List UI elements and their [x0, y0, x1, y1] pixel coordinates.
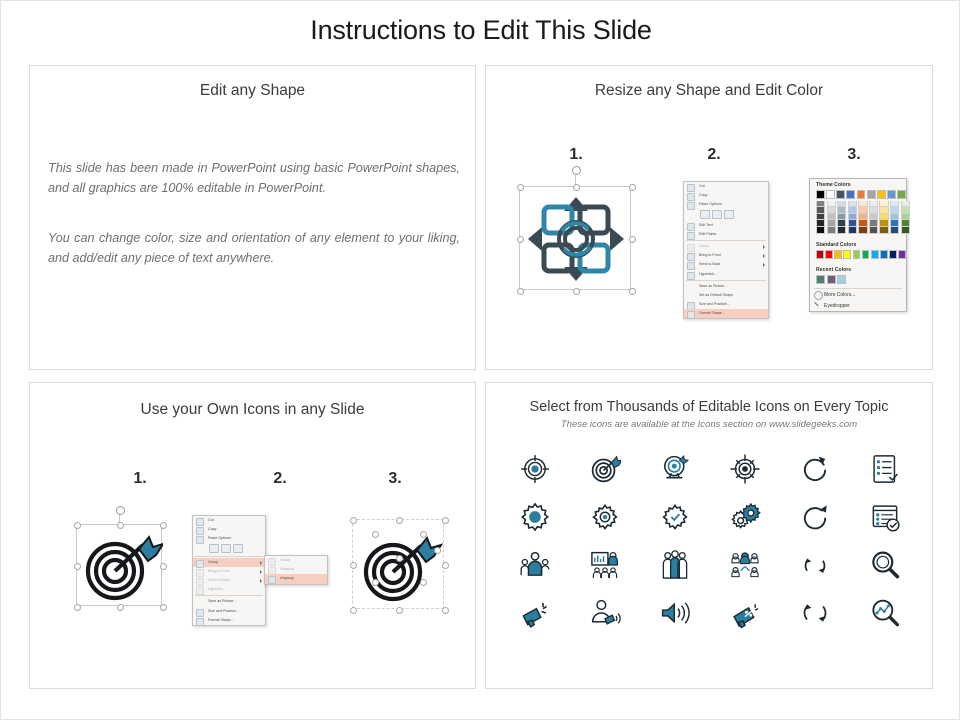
resize-handle-sw[interactable]	[517, 288, 524, 295]
resize-step-number-1: 1.	[556, 146, 596, 164]
theme-shade-swatch[interactable]	[848, 227, 857, 234]
standard-color-swatch[interactable]	[816, 250, 824, 259]
sub-shape-handle[interactable]	[434, 547, 441, 554]
menu-item-label: Save as Picture...	[699, 284, 727, 288]
four-arrow-ring-shape-icon	[520, 187, 632, 291]
theme-shade-column[interactable]	[858, 201, 867, 234]
target-crosshair-icon[interactable]	[519, 453, 551, 485]
chevron-right-icon	[260, 579, 262, 583]
icon-context-menu[interactable]: CutCopyPaste Options:GroupBring to Front…	[192, 515, 266, 626]
rotation-handle-icon[interactable]	[116, 506, 125, 515]
menu-item-label: Group	[699, 244, 709, 248]
checklist-document-icon[interactable]	[869, 453, 901, 485]
icon-library-subtitle: These icons are available at the Icons s…	[486, 419, 932, 430]
refresh-clockwise-icon[interactable]	[799, 453, 831, 485]
menu-item-label: Size and Position...	[208, 609, 239, 613]
menu-item-regroup[interactable]: Regroup	[265, 565, 327, 574]
menu-item-label: Edit Points	[699, 232, 716, 236]
menu-item-edit-points[interactable]: Edit Points	[684, 230, 768, 239]
menu-item-set-as-default-shape[interactable]: Set as Default Shape	[684, 291, 768, 300]
chevron-right-icon	[763, 245, 765, 249]
standard-color-swatch[interactable]	[834, 250, 842, 259]
speaker-sound-icon[interactable]	[659, 597, 691, 629]
menu-item-size-and-position[interactable]: Size and Position...	[193, 607, 265, 616]
resize-handle-sw[interactable]	[74, 604, 81, 611]
resize-handle-s[interactable]	[573, 288, 580, 295]
slide-canvas: Instructions to Edit This Slide Edit any…	[0, 0, 960, 720]
panel-icon-library: Select from Thousands of Editable Icons …	[485, 382, 933, 689]
theme-shade-swatch[interactable]	[858, 227, 867, 234]
crosshair-dot-icon[interactable]	[729, 453, 761, 485]
theme-color-swatch[interactable]	[816, 190, 825, 199]
menu-item-copy[interactable]: Copy	[193, 525, 265, 534]
theme-shade-swatch[interactable]	[827, 207, 836, 214]
standard-colors-label: Standard Colors	[810, 239, 906, 250]
standard-color-swatch[interactable]	[880, 250, 888, 259]
recent-colors-label: Recent Colors	[810, 264, 906, 275]
menu-item-label: Hyperlink...	[208, 587, 226, 591]
theme-shade-swatch[interactable]	[901, 220, 910, 227]
theme-shade-swatch[interactable]	[879, 214, 888, 221]
menu-item-hyperlink[interactable]: Hyperlink...	[684, 270, 768, 279]
theme-shade-swatch[interactable]	[869, 227, 878, 234]
recent-color-swatch[interactable]	[837, 275, 846, 284]
menu-item-label: Edit Text	[699, 223, 713, 227]
panel-edit-any-shape: Edit any Shape This slide has been made …	[29, 65, 476, 370]
two-gears-icon[interactable]	[729, 501, 761, 533]
theme-shade-swatch[interactable]	[901, 201, 910, 208]
theme-shade-swatch[interactable]	[869, 214, 878, 221]
theme-shade-swatch[interactable]	[816, 227, 825, 234]
menu-item-label: Regroup	[280, 567, 294, 571]
presentation-team-icon[interactable]	[589, 549, 621, 581]
menu-item-label: Cut	[699, 184, 705, 188]
resize-handle-w[interactable]	[74, 563, 81, 570]
icons-step-number-1: 1.	[120, 470, 160, 488]
theme-shade-swatch[interactable]	[901, 207, 910, 214]
reload-circle-icon[interactable]	[799, 501, 831, 533]
theme-color-swatch[interactable]	[826, 190, 835, 199]
theme-shade-swatch[interactable]	[901, 214, 910, 221]
theme-colors-shade-grid[interactable]	[810, 201, 906, 234]
target-stand-icon[interactable]	[659, 453, 691, 485]
menu-item-bring-to-front[interactable]: Bring to Front	[684, 251, 768, 260]
hyperlink-icon	[196, 587, 204, 595]
resize-step-number-2: 2.	[694, 146, 734, 164]
person-megaphone-icon[interactable]	[589, 597, 621, 629]
theme-shade-column[interactable]	[879, 201, 888, 234]
circular-arrows-icon[interactable]	[799, 597, 831, 629]
paste-keep-formatting-icon[interactable]	[700, 210, 710, 220]
resize-handle-sw[interactable]	[350, 607, 357, 614]
menu-item-label: Bring to Front	[208, 569, 230, 573]
shape-context-menu[interactable]: CutCopyPaste Options:Edit TextEdit Point…	[683, 181, 769, 319]
theme-color-swatch[interactable]	[857, 190, 866, 199]
resize-handle-s[interactable]	[117, 604, 124, 611]
theme-color-swatch[interactable]	[877, 190, 886, 199]
resize-handle-e[interactable]	[629, 236, 636, 243]
theme-shade-swatch[interactable]	[837, 220, 846, 227]
hyperlink-icon	[687, 272, 695, 280]
theme-shade-swatch[interactable]	[848, 214, 857, 221]
theme-shade-swatch[interactable]	[858, 201, 867, 208]
menu-item-hyperlink[interactable]: Hyperlink...	[193, 585, 265, 594]
paste-picture-icon[interactable]	[221, 544, 231, 554]
resize-handle-n[interactable]	[396, 517, 403, 524]
standard-color-swatch[interactable]	[853, 250, 861, 259]
theme-shade-swatch[interactable]	[901, 227, 910, 234]
resize-handle-se[interactable]	[442, 607, 449, 614]
menu-item-label: Hyperlink...	[699, 272, 717, 276]
dartboard-arrow-ungrouped-icon	[353, 520, 445, 610]
theme-shade-swatch[interactable]	[837, 201, 846, 208]
audience-person-icon[interactable]	[519, 549, 551, 581]
sub-shape-handle[interactable]	[372, 531, 379, 538]
menu-item-save-as-picture[interactable]: Save as Picture...	[193, 597, 265, 606]
theme-shade-swatch[interactable]	[816, 201, 825, 208]
chevron-right-icon	[763, 263, 765, 267]
theme-shade-swatch[interactable]	[890, 214, 899, 221]
group-submenu[interactable]: GroupRegroupUngroup	[264, 555, 328, 585]
resize-handle-s[interactable]	[396, 607, 403, 614]
edit-points-icon	[687, 232, 695, 240]
standard-color-swatch[interactable]	[843, 250, 851, 259]
theme-shade-column[interactable]	[848, 201, 857, 234]
resize-handle-w[interactable]	[350, 562, 357, 569]
color-wheel-icon	[814, 291, 823, 300]
more-colors-menu-item[interactable]: More Colors...	[810, 289, 906, 300]
resize-handle-n[interactable]	[117, 522, 124, 529]
menu-item-label: Save as Picture...	[208, 599, 236, 603]
paste-keep-text-icon[interactable]	[233, 544, 243, 554]
menu-item-ungroup[interactable]: Ungroup	[265, 574, 327, 583]
theme-shade-column[interactable]	[869, 201, 878, 234]
group-people-icon[interactable]	[659, 549, 691, 581]
edit-shape-paragraph-2: You can change color, size and orientati…	[48, 228, 460, 268]
chevron-right-icon	[260, 570, 262, 574]
chevron-right-icon	[260, 561, 262, 565]
icons-step-number-2: 2.	[260, 470, 300, 488]
menu-divider	[686, 280, 766, 281]
menu-item-save-as-picture[interactable]: Save as Picture...	[684, 282, 768, 291]
menu-item-label: Size and Position...	[699, 302, 730, 306]
theme-shade-swatch[interactable]	[858, 207, 867, 214]
panel-resize-shape-edit-color: Resize any Shape and Edit Color 1. 2. 3.	[485, 65, 933, 370]
theme-shade-swatch[interactable]	[890, 220, 899, 227]
sub-shape-handle[interactable]	[420, 579, 427, 586]
resize-handle-ne[interactable]	[442, 517, 449, 524]
panel-title-edit-shape: Edit any Shape	[30, 82, 475, 100]
menu-item-bring-to-front[interactable]: Bring to Front	[193, 567, 265, 576]
theme-shade-swatch[interactable]	[816, 220, 825, 227]
paste-keep-formatting-icon[interactable]	[209, 544, 219, 554]
theme-shade-swatch[interactable]	[837, 214, 846, 221]
theme-shade-swatch[interactable]	[816, 214, 825, 221]
menu-item-paste-options[interactable]: Paste Options:	[193, 534, 265, 543]
menu-item-send-to-back[interactable]: Send to Back	[684, 260, 768, 269]
sync-arrows-icon[interactable]	[799, 549, 831, 581]
dartboard-selection-frame[interactable]	[76, 524, 162, 606]
standard-color-swatch[interactable]	[825, 250, 833, 259]
resize-handle-ne[interactable]	[629, 184, 636, 191]
gear-dot-icon[interactable]	[589, 501, 621, 533]
theme-color-swatch[interactable]	[897, 190, 906, 199]
paste-options-row[interactable]	[193, 544, 265, 555]
shape-selection-frame[interactable]	[519, 186, 631, 290]
menu-item-label: Copy	[699, 193, 707, 197]
menu-item-label: Send to Back	[208, 578, 229, 582]
paste-icon	[196, 536, 204, 544]
team-hierarchy-icon[interactable]	[729, 549, 761, 581]
magnifier-chart-icon[interactable]	[869, 597, 901, 629]
panel-title-icon-library: Select from Thousands of Editable Icons …	[486, 399, 932, 415]
panel-title-resize-shape: Resize any Shape and Edit Color	[486, 82, 932, 100]
theme-shade-swatch[interactable]	[869, 201, 878, 208]
recent-colors-row[interactable]	[810, 275, 906, 284]
theme-color-swatch[interactable]	[836, 190, 845, 199]
theme-shade-swatch[interactable]	[837, 207, 846, 214]
resize-handle-se[interactable]	[629, 288, 636, 295]
standard-color-swatch[interactable]	[889, 250, 897, 259]
menu-item-label: Send to Back	[699, 262, 720, 266]
theme-shade-column[interactable]	[890, 201, 899, 234]
group-op-icon	[268, 576, 276, 584]
panel-title-own-icons: Use your Own Icons in any Slide	[30, 401, 475, 419]
menu-item-label: Paste Options:	[208, 536, 232, 540]
dartboard-arrow-icon[interactable]	[589, 453, 621, 485]
theme-shade-swatch[interactable]	[890, 227, 899, 234]
menu-divider	[195, 595, 263, 596]
sub-shape-handle[interactable]	[420, 531, 427, 538]
color-picker-panel[interactable]: Theme Colors Standard Colors Recent Colo…	[809, 178, 907, 312]
menu-item-label: Group	[208, 560, 218, 564]
resize-handle-nw[interactable]	[350, 517, 357, 524]
dartboard-arrow-icon	[77, 525, 163, 607]
edit-shape-paragraph-1: This slide has been made in PowerPoint u…	[48, 158, 460, 198]
menu-item-cut[interactable]: Cut	[193, 516, 265, 525]
paste-picture-icon[interactable]	[712, 210, 722, 220]
resize-step-number-3: 3.	[834, 146, 874, 164]
paste-keep-text-icon[interactable]	[724, 210, 734, 220]
magnifier-icon[interactable]	[869, 549, 901, 581]
menu-item-copy[interactable]: Copy	[684, 191, 768, 200]
ungrouped-selection-frame[interactable]	[352, 519, 444, 609]
theme-shade-swatch[interactable]	[858, 214, 867, 221]
menu-item-label: Bring to Front	[699, 253, 721, 257]
standard-color-swatch[interactable]	[862, 250, 870, 259]
theme-shade-swatch[interactable]	[890, 207, 899, 214]
menu-item-format-shape[interactable]: Format Shape...	[193, 616, 265, 625]
resize-handle-se[interactable]	[160, 604, 167, 611]
resize-handle-e[interactable]	[442, 562, 449, 569]
menu-item-group[interactable]: Group	[684, 242, 768, 251]
theme-shade-swatch[interactable]	[879, 227, 888, 234]
theme-shade-swatch[interactable]	[848, 201, 857, 208]
theme-shade-swatch[interactable]	[879, 207, 888, 214]
menu-item-cut[interactable]: Cut	[684, 182, 768, 191]
gear-solid-icon[interactable]	[519, 501, 551, 533]
menu-item-format-shape[interactable]: Format Shape...	[684, 309, 768, 318]
menu-item-group[interactable]: Group	[193, 558, 265, 567]
eyedropper-menu-item[interactable]: Eyedropper	[810, 300, 906, 311]
theme-shade-column[interactable]	[816, 201, 825, 234]
paste-options-row[interactable]	[684, 210, 768, 221]
recent-color-swatch[interactable]	[816, 275, 825, 284]
menu-item-label: Group	[280, 558, 290, 562]
resize-handle-w[interactable]	[517, 236, 524, 243]
format-shape-icon	[196, 618, 204, 626]
page-title: Instructions to Edit This Slide	[1, 15, 960, 46]
menu-divider	[686, 240, 766, 241]
theme-shade-swatch[interactable]	[816, 207, 825, 214]
menu-item-label: Copy	[208, 527, 216, 531]
standard-color-swatch[interactable]	[871, 250, 879, 259]
menu-item-group[interactable]: Group	[265, 556, 327, 565]
theme-color-swatch[interactable]	[887, 190, 896, 199]
theme-shade-swatch[interactable]	[848, 207, 857, 214]
resize-handle-e[interactable]	[160, 563, 167, 570]
theme-shade-swatch[interactable]	[837, 227, 846, 234]
theme-shade-column[interactable]	[901, 201, 910, 234]
chevron-right-icon	[763, 254, 765, 258]
icons-step-number-3: 3.	[375, 470, 415, 488]
theme-colors-label: Theme Colors	[810, 179, 906, 190]
eyedropper-icon	[814, 302, 821, 309]
resize-handle-nw[interactable]	[74, 522, 81, 529]
paste-icon	[687, 202, 695, 210]
theme-color-swatch[interactable]	[846, 190, 855, 199]
menu-item-edit-text[interactable]: Edit Text	[684, 221, 768, 230]
theme-color-swatch[interactable]	[867, 190, 876, 199]
theme-shade-swatch[interactable]	[869, 207, 878, 214]
menu-item-label: Format Shape...	[699, 311, 725, 315]
theme-shade-swatch[interactable]	[858, 220, 867, 227]
recent-color-swatch[interactable]	[827, 275, 836, 284]
menu-item-label: Paste Options:	[699, 202, 723, 206]
theme-shade-swatch[interactable]	[827, 220, 836, 227]
megaphone-percent-icon[interactable]	[729, 597, 761, 629]
menu-item-paste-options[interactable]: Paste Options:	[684, 200, 768, 209]
panel-use-own-icons: Use your Own Icons in any Slide 1. 2. 3.	[29, 382, 476, 689]
rotation-handle-icon[interactable]	[572, 166, 581, 175]
standard-colors-row[interactable]	[810, 250, 906, 259]
theme-shade-swatch[interactable]	[827, 201, 836, 208]
menu-item-label: Set as Default Shape	[699, 293, 733, 297]
menu-divider	[195, 556, 263, 557]
theme-shade-swatch[interactable]	[879, 220, 888, 227]
theme-shade-swatch[interactable]	[879, 201, 888, 208]
theme-shade-column[interactable]	[827, 201, 836, 234]
megaphone-icon[interactable]	[519, 597, 551, 629]
gear-check-icon[interactable]	[659, 501, 691, 533]
resize-handle-ne[interactable]	[160, 522, 167, 529]
menu-item-label: Format Shape...	[208, 618, 234, 622]
icon-library-grid[interactable]	[500, 445, 920, 637]
resize-handle-n[interactable]	[573, 184, 580, 191]
theme-colors-top-row[interactable]	[810, 190, 906, 199]
menu-item-send-to-back[interactable]: Send to Back	[193, 576, 265, 585]
theme-shade-swatch[interactable]	[869, 220, 878, 227]
standard-color-swatch[interactable]	[898, 250, 906, 259]
theme-shade-swatch[interactable]	[848, 220, 857, 227]
menu-item-size-and-position[interactable]: Size and Position...	[684, 300, 768, 309]
sub-shape-handle[interactable]	[396, 555, 403, 562]
menu-item-label: Cut	[208, 518, 214, 522]
menu-item-label: Ungroup	[280, 576, 294, 580]
format-shape-icon	[687, 311, 695, 319]
theme-shade-column[interactable]	[837, 201, 846, 234]
theme-shade-swatch[interactable]	[827, 227, 836, 234]
checklist-approved-icon[interactable]	[869, 501, 901, 533]
sub-shape-handle[interactable]	[372, 579, 379, 586]
theme-shade-swatch[interactable]	[827, 214, 836, 221]
resize-handle-nw[interactable]	[517, 184, 524, 191]
theme-shade-swatch[interactable]	[890, 201, 899, 208]
